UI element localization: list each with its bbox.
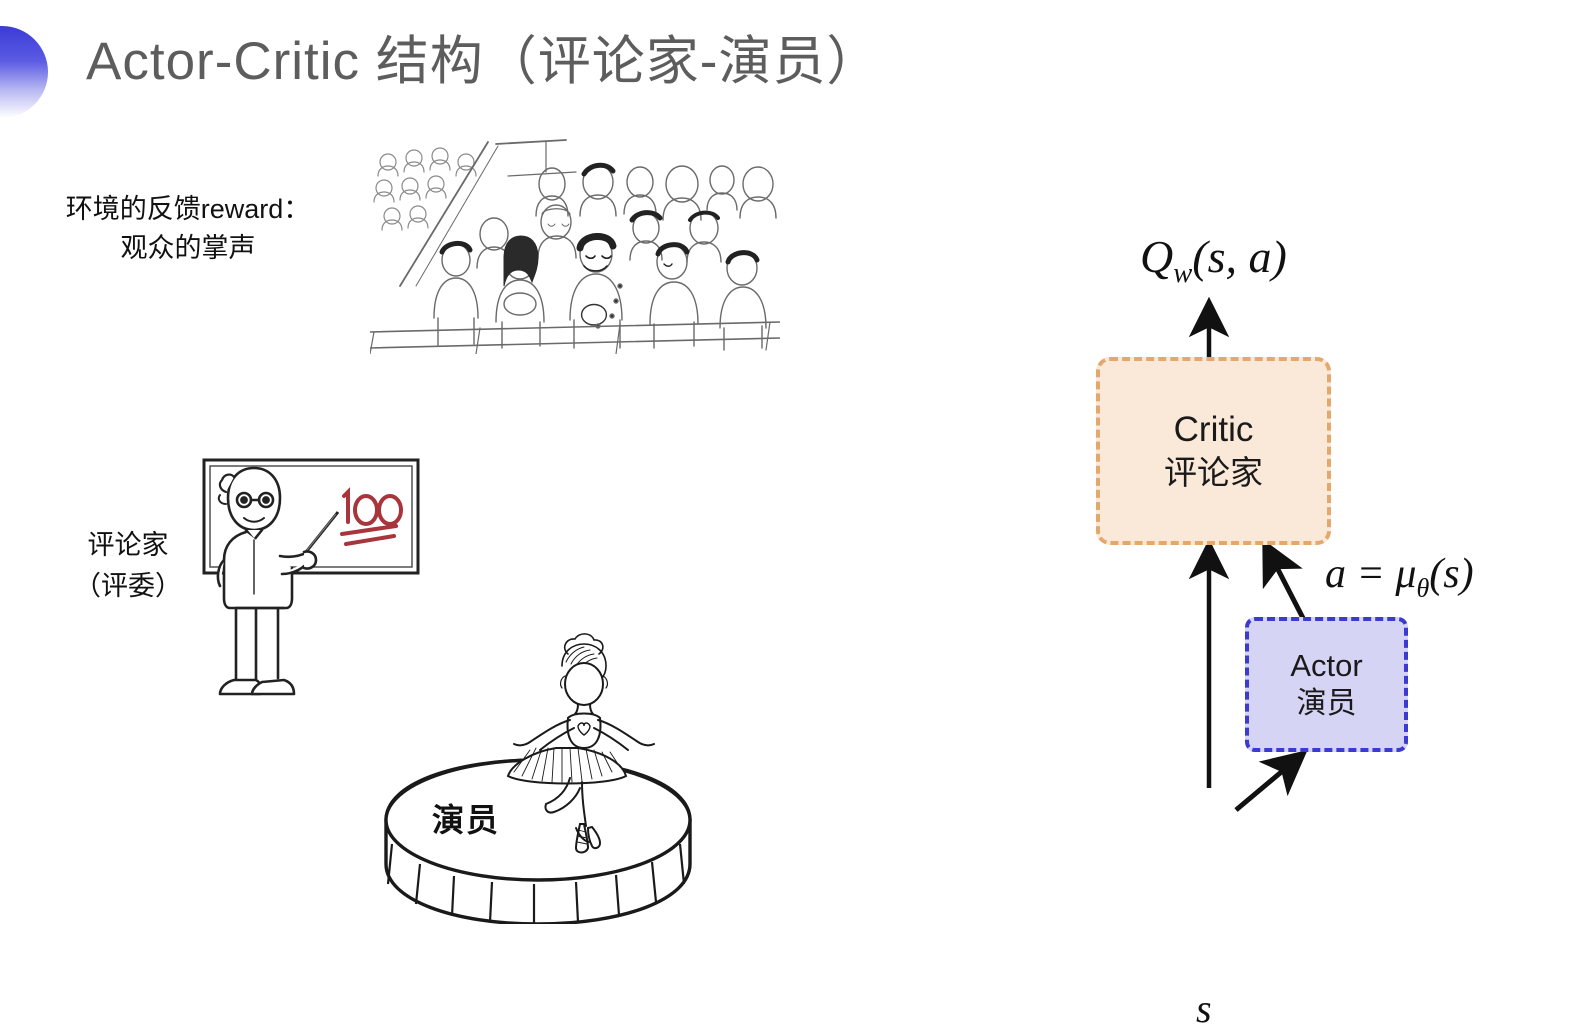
actor-critic-diagram: Qw(s, a) Critic 评论家 a = μθ(s) Actor 演员 s [1040,210,1580,870]
page-title: Actor-Critic 结构（评论家-演员） [86,30,880,94]
q-arguments: (s, a) [1192,231,1287,282]
critic-box[interactable]: Critic 评论家 [1096,357,1331,545]
critic-role-label-line2: （评委） [48,566,208,607]
critic-box-subtitle: 评论家 [1164,454,1263,493]
action-formula: a = μθ(s) [1325,550,1474,603]
state-symbol: s [1196,985,1212,1032]
ballerina-stage-sketch [362,632,730,924]
critic-role-label: 评论家 （评委） [48,525,208,606]
reward-label-line2: 观众的掌声 [48,229,328,268]
q-value-formula: Qw(s, a) [1140,230,1287,290]
reward-label: 环境的反馈reward： 观众的掌声 [48,190,328,268]
action-arguments: (s) [1429,551,1473,597]
action-symbol: a = μ [1325,551,1416,597]
actor-box[interactable]: Actor 演员 [1245,617,1408,752]
actor-box-title: Actor [1290,648,1362,685]
title-bullet-icon [0,26,48,118]
actor-box-subtitle: 演员 [1297,686,1357,721]
critic-role-label-line1: 评论家 [48,525,208,566]
stage-actor-label: 演员 [432,795,500,841]
audience-sketch [370,136,780,354]
slide-canvas: Actor-Critic 结构（评论家-演员） 环境的反馈reward： 观众的… [0,0,1592,1012]
q-symbol: Q [1140,231,1173,282]
critic-box-title: Critic [1174,409,1254,450]
q-subscript: w [1173,258,1192,289]
action-subscript: θ [1416,573,1429,602]
reward-label-line1: 环境的反馈reward： [48,190,328,229]
